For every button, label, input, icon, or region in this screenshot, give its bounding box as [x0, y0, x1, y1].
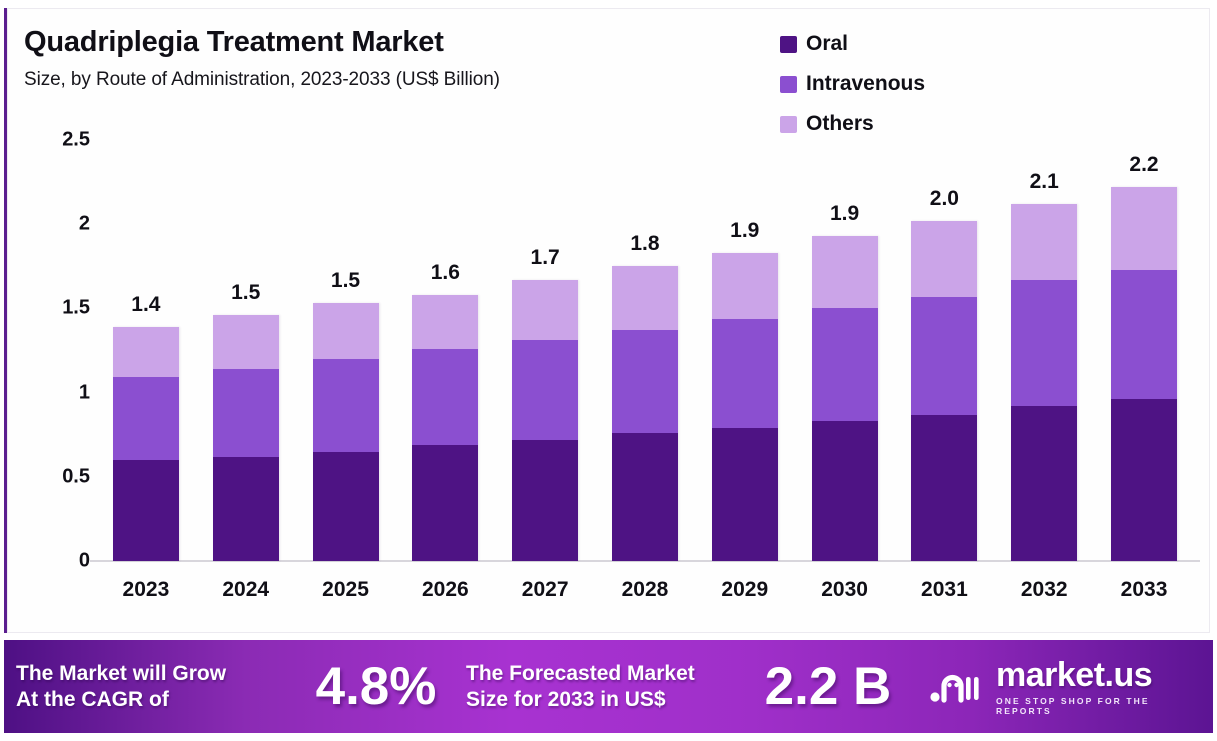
bar-stack[interactable]: [712, 253, 778, 561]
x-axis-labels: 2023202420252026202720282029203020312032…: [96, 578, 1194, 602]
x-axis-label-2032: 2032: [994, 578, 1094, 602]
bar-group-2032[interactable]: 2.1: [994, 140, 1094, 561]
bar-segment-others[interactable]: [213, 315, 279, 369]
bar-stack[interactable]: [213, 315, 279, 561]
legend-item-intravenous[interactable]: Intravenous: [780, 72, 992, 96]
bar-segment-others[interactable]: [113, 327, 179, 378]
x-axis-label-2031: 2031: [895, 578, 995, 602]
bar-segment-intravenous[interactable]: [812, 308, 878, 421]
cagr-label: The Market will Grow At the CAGR of: [4, 640, 286, 733]
bar-group-2026[interactable]: 1.6: [395, 140, 495, 561]
bar-stack[interactable]: [812, 236, 878, 561]
bar-segment-others[interactable]: [1011, 204, 1077, 280]
x-axis-label-2033: 2033: [1094, 578, 1194, 602]
legend-swatch-icon: [780, 36, 797, 53]
bar-value-label: 1.6: [395, 261, 495, 285]
bar-segment-intravenous[interactable]: [412, 349, 478, 445]
x-axis-label-2023: 2023: [96, 578, 196, 602]
y-axis: 00.511.522.5: [24, 140, 90, 561]
bar-segment-others[interactable]: [1111, 187, 1177, 270]
bar-group-2027[interactable]: 1.7: [495, 140, 595, 561]
brand-logo[interactable]: market.us ONE STOP SHOP FOR THE REPORTS: [928, 640, 1213, 733]
bar-stack[interactable]: [612, 266, 678, 561]
bar-segment-oral[interactable]: [1111, 399, 1177, 561]
bar-segment-intravenous[interactable]: [612, 330, 678, 433]
logo-name: market.us: [996, 658, 1199, 692]
logo-tagline: ONE STOP SHOP FOR THE REPORTS: [996, 696, 1199, 716]
page-title: Quadriplegia Treatment Market: [24, 26, 764, 59]
bar-segment-others[interactable]: [512, 280, 578, 341]
bar-value-label: 2.0: [895, 187, 995, 211]
bar-value-label: 2.1: [994, 170, 1094, 194]
bar-segment-oral[interactable]: [512, 440, 578, 561]
bar-value-label: 1.4: [96, 293, 196, 317]
bar-segment-others[interactable]: [612, 266, 678, 330]
bar-series-area: 1.41.51.51.61.71.81.91.92.02.12.2: [96, 140, 1194, 561]
bar-segment-intravenous[interactable]: [712, 319, 778, 428]
bar-value-label: 2.2: [1094, 153, 1194, 177]
chart-header: Quadriplegia Treatment Market Size, by R…: [24, 26, 764, 91]
bar-segment-intravenous[interactable]: [1111, 270, 1177, 400]
bar-stack[interactable]: [512, 280, 578, 561]
bar-group-2025[interactable]: 1.5: [296, 140, 396, 561]
y-axis-tick: 0: [79, 550, 90, 573]
bar-segment-oral[interactable]: [412, 445, 478, 561]
bar-stack[interactable]: [313, 303, 379, 561]
y-axis-tick: 1: [79, 381, 90, 404]
cagr-label-line2: At the CAGR of: [16, 687, 226, 713]
legend-label: Oral: [806, 32, 848, 56]
bar-segment-oral[interactable]: [712, 428, 778, 561]
bar-stack[interactable]: [113, 327, 179, 561]
bar-group-2033[interactable]: 2.2: [1094, 140, 1194, 561]
bar-segment-oral[interactable]: [113, 460, 179, 561]
chart-legend: OralIntravenousOthers: [780, 32, 1200, 136]
bar-group-2031[interactable]: 2.0: [895, 140, 995, 561]
x-axis-label-2028: 2028: [595, 578, 695, 602]
x-axis-label-2030: 2030: [795, 578, 895, 602]
bar-segment-oral[interactable]: [911, 415, 977, 562]
y-axis-tick: 2.5: [62, 129, 90, 152]
x-axis-label-2024: 2024: [196, 578, 296, 602]
bar-segment-oral[interactable]: [612, 433, 678, 561]
market-us-logo-icon: [928, 666, 986, 708]
x-axis-label-2027: 2027: [495, 578, 595, 602]
bar-segment-others[interactable]: [412, 295, 478, 349]
chart-infographic: Quadriplegia Treatment Market Size, by R…: [0, 0, 1217, 741]
bar-value-label: 1.5: [296, 269, 396, 293]
bar-segment-oral[interactable]: [812, 421, 878, 561]
legend-label: Intravenous: [806, 72, 925, 96]
bar-segment-others[interactable]: [313, 303, 379, 359]
legend-swatch-icon: [780, 76, 797, 93]
y-axis-tick: 0.5: [62, 465, 90, 488]
cagr-label-line1: The Market will Grow: [16, 661, 226, 687]
x-axis-label-2025: 2025: [296, 578, 396, 602]
y-axis-tick: 1.5: [62, 297, 90, 320]
bar-group-2029[interactable]: 1.9: [695, 140, 795, 561]
bar-value-label: 1.9: [795, 202, 895, 226]
chart-subtitle: Size, by Route of Administration, 2023-2…: [24, 69, 764, 91]
bar-stack[interactable]: [911, 221, 977, 561]
x-axis-label-2029: 2029: [695, 578, 795, 602]
bar-group-2024[interactable]: 1.5: [196, 140, 296, 561]
legend-item-oral[interactable]: Oral: [780, 32, 992, 56]
forecast-value: 2.2 B: [728, 640, 928, 733]
bar-segment-intravenous[interactable]: [113, 377, 179, 460]
bar-value-label: 1.7: [495, 246, 595, 270]
bar-stack[interactable]: [1111, 187, 1177, 561]
legend-swatch-icon: [780, 116, 797, 133]
legend-label: Others: [806, 112, 874, 136]
forecast-label-line1: The Forecasted Market: [466, 661, 695, 687]
forecast-label-line2: Size for 2033 in US$: [466, 687, 695, 713]
bar-segment-intravenous[interactable]: [911, 297, 977, 415]
forecast-label: The Forecasted Market Size for 2033 in U…: [466, 640, 728, 733]
y-axis-tick: 2: [79, 213, 90, 236]
x-axis-label-2026: 2026: [395, 578, 495, 602]
bar-segment-intravenous[interactable]: [213, 369, 279, 457]
bar-segment-others[interactable]: [812, 236, 878, 308]
bar-segment-others[interactable]: [911, 221, 977, 297]
bar-segment-oral[interactable]: [1011, 406, 1077, 561]
bar-segment-oral[interactable]: [313, 452, 379, 561]
bar-group-2023[interactable]: 1.4: [96, 140, 196, 561]
bar-segment-others[interactable]: [712, 253, 778, 319]
bar-value-label: 1.8: [595, 232, 695, 256]
bar-stack[interactable]: [412, 295, 478, 561]
bar-segment-intravenous[interactable]: [512, 340, 578, 439]
bar-value-label: 1.5: [196, 281, 296, 305]
bar-stack[interactable]: [1011, 204, 1077, 561]
summary-banner: The Market will Grow At the CAGR of 4.8%…: [4, 640, 1213, 733]
left-accent-rail: [4, 8, 7, 633]
legend-item-others[interactable]: Others: [780, 112, 992, 136]
bar-segment-intravenous[interactable]: [1011, 280, 1077, 406]
bar-segment-intravenous[interactable]: [313, 359, 379, 452]
cagr-value: 4.8%: [286, 640, 466, 733]
bar-value-label: 1.9: [695, 219, 795, 243]
bar-segment-oral[interactable]: [213, 457, 279, 561]
bar-group-2028[interactable]: 1.8: [595, 140, 695, 561]
bar-group-2030[interactable]: 1.9: [795, 140, 895, 561]
